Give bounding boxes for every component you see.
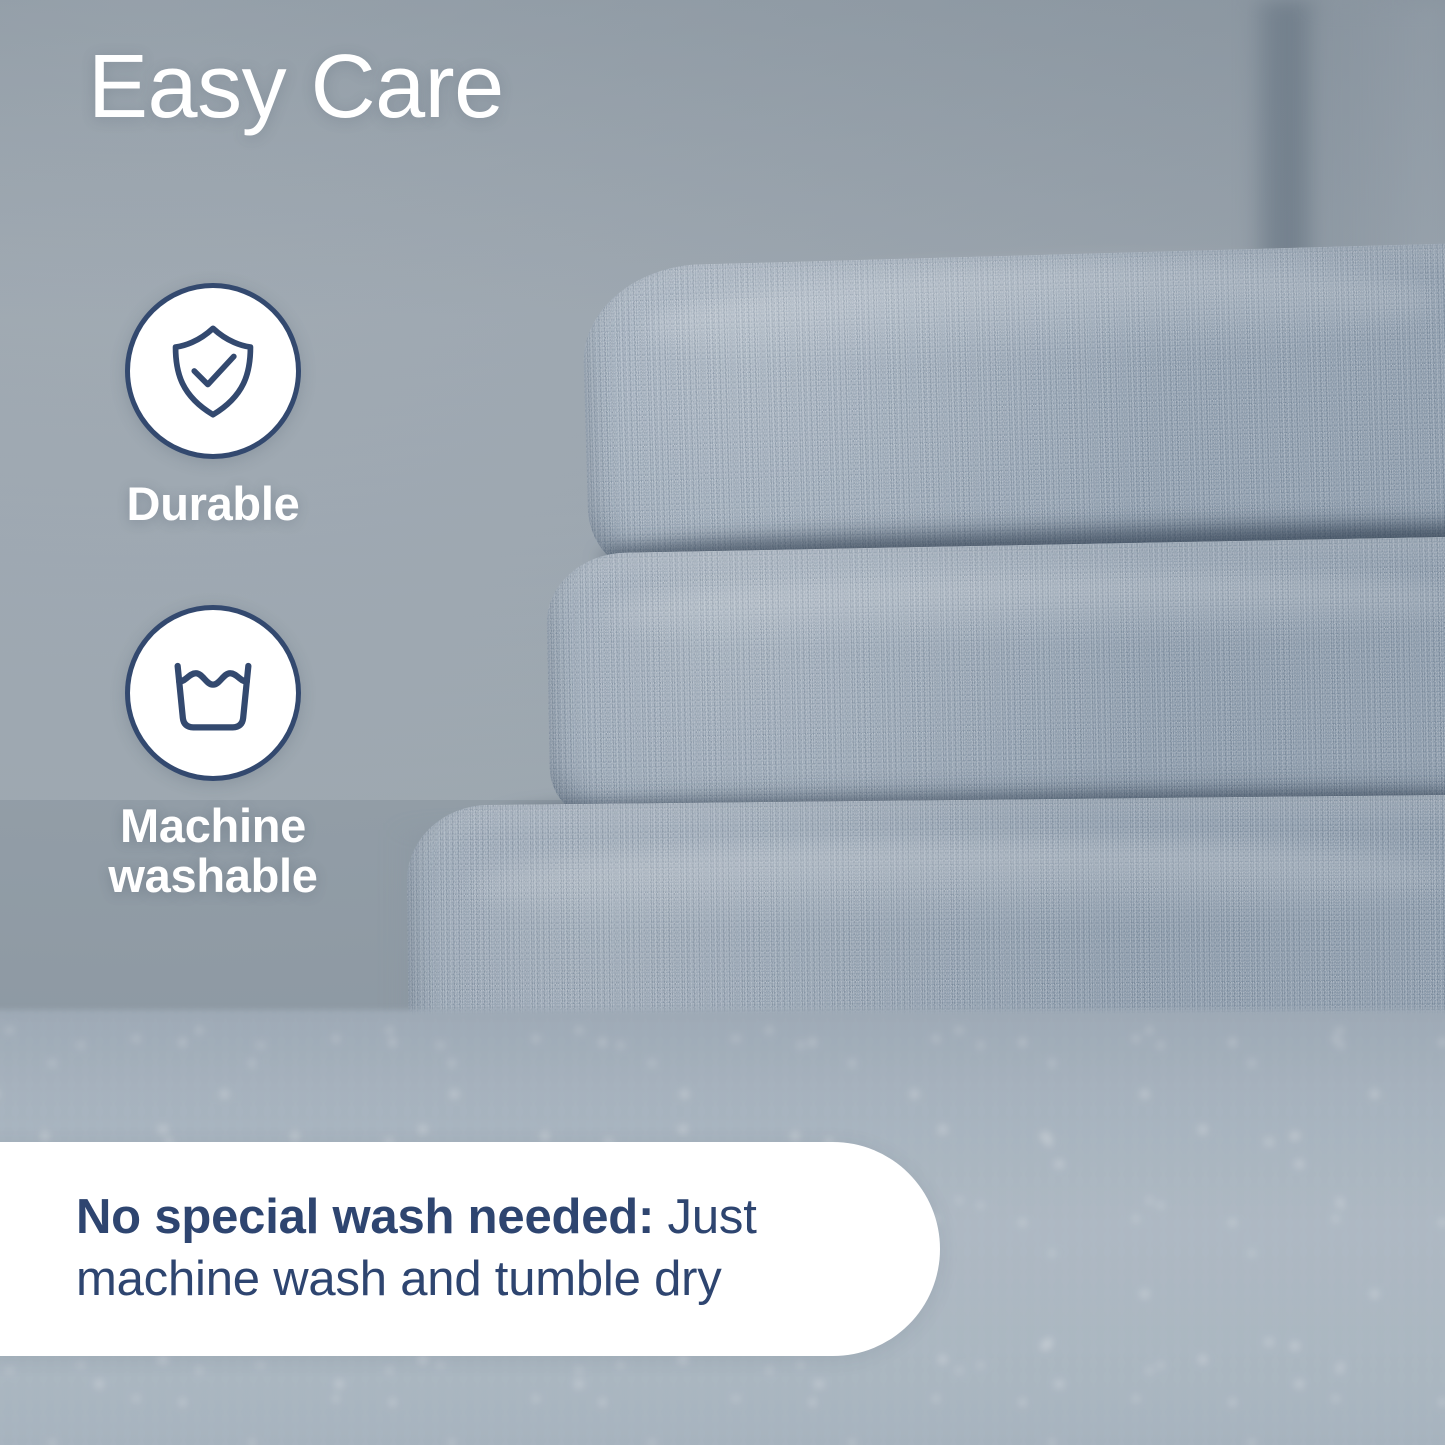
headline: Easy Care <box>88 42 504 132</box>
caption-bold-prefix: No special wash needed: <box>76 1190 654 1244</box>
feature-durable: Durable <box>58 283 368 529</box>
feature-label: Machine washable <box>58 801 368 901</box>
caption-text: No special wash needed: Just machine was… <box>76 1187 820 1310</box>
caption-banner: No special wash needed: Just machine was… <box>0 1142 940 1356</box>
feature-machine-washable: Machine washable <box>58 605 368 901</box>
feature-icon-badge <box>125 605 301 781</box>
feature-icon-badge <box>125 283 301 459</box>
wash-tub-icon <box>161 641 265 745</box>
feature-label: Durable <box>58 479 368 529</box>
shield-check-icon <box>161 319 265 423</box>
product-feature-image: Easy Care Durable Machine washable <box>0 0 1445 1445</box>
